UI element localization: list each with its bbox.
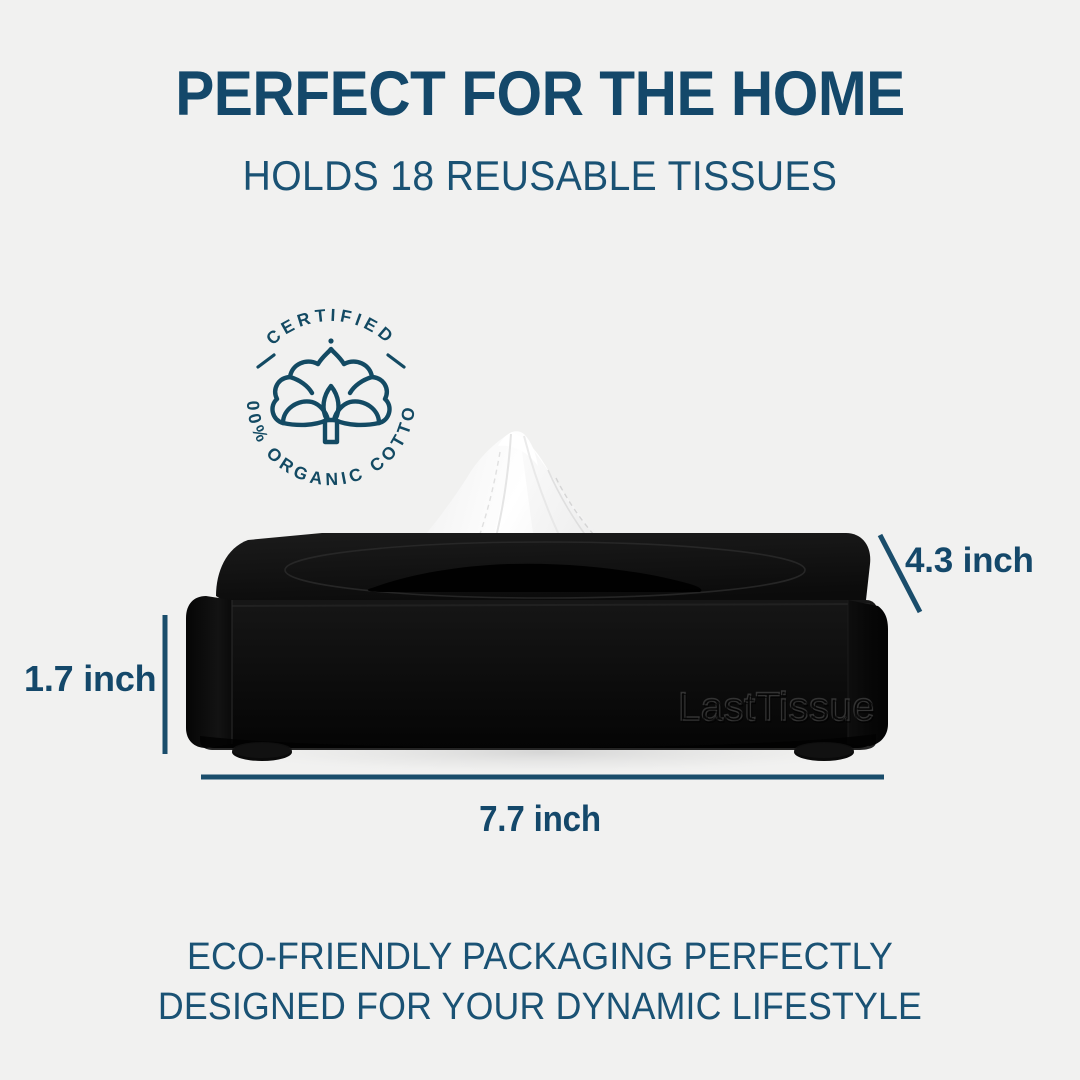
height-dimension-label: 1.7 inch: [24, 658, 156, 700]
product-infographic: PERFECT FOR THE HOME HOLDS 18 REUSABLE T…: [0, 0, 1080, 1080]
svg-text:LastTissue: LastTissue: [679, 687, 876, 731]
page-title: PERFECT FOR THE HOME: [38, 58, 1042, 130]
width-dimension-label: 7.7 inch: [43, 798, 1037, 840]
brand-logo: LastTissue LastTissue: [678, 685, 876, 731]
svg-text:LastTissue: LastTissue: [678, 685, 875, 729]
organic-cotton-certification-badge: CERTIFIED 100% ORGANIC COTTON: [222, 292, 440, 510]
tagline-line-1: ECO-FRIENDLY PACKAGING PERFECTLY: [32, 932, 1047, 982]
depth-dimension-label: 4.3 inch: [905, 541, 1034, 581]
footer-tagline: ECO-FRIENDLY PACKAGING PERFECTLY DESIGNE…: [32, 932, 1047, 1032]
tagline-line-2: DESIGNED FOR YOUR DYNAMIC LIFESTYLE: [32, 982, 1047, 1032]
page-subtitle: HOLDS 18 REUSABLE TISSUES: [38, 152, 1042, 200]
